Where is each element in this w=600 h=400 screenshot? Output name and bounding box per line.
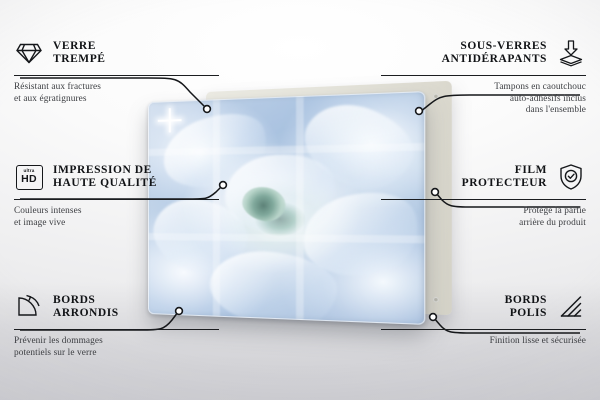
divider	[381, 329, 586, 330]
feature-title: BORDS	[505, 294, 547, 308]
feature-desc: et image vive	[14, 218, 219, 230]
feature-desc: Protège la partie	[381, 206, 586, 218]
feature-desc: et aux égratignures	[14, 94, 219, 106]
divider	[14, 329, 219, 330]
feature-title: PROTECTEUR	[462, 177, 547, 191]
feature-title: SOUS-VERRES	[442, 40, 547, 54]
feature-title: ARRONDIS	[53, 307, 119, 321]
divider	[14, 75, 219, 76]
feature-title: IMPRESSION DE	[53, 164, 157, 178]
feature-desc: dans l'ensemble	[381, 105, 586, 117]
divider	[14, 199, 219, 200]
feature-title: VERRE	[53, 40, 106, 54]
feature-sous-verres-antiderapants: SOUS-VERRES ANTIDÉRAPANTS Tampons en cao…	[381, 36, 586, 117]
feature-title: POLIS	[505, 307, 547, 321]
press-pad-icon	[556, 38, 586, 68]
feature-film-protecteur: FILM PROTECTEUR Protège la partie arrièr…	[381, 160, 586, 229]
feature-desc: auto-adhésifs inclus	[381, 94, 586, 106]
divider	[381, 199, 586, 200]
badge-hd-label: HD	[21, 174, 37, 185]
feature-impression-haute-qualite: ultra HD IMPRESSION DE HAUTE QUALITÉ Cou…	[14, 160, 219, 229]
feature-desc: Résistant aux fractures	[14, 82, 219, 94]
feature-desc: potentiels sur le verre	[14, 348, 219, 360]
rounded-corner-icon	[14, 292, 44, 322]
feature-desc: Finition lisse et sécurisée	[381, 336, 586, 348]
feature-title: TREMPÉ	[53, 53, 106, 67]
feature-verre-trempe: VERRE TREMPÉ Résistant aux fractures et …	[14, 36, 219, 105]
shield-check-icon	[556, 162, 586, 192]
feature-desc: Tampons en caoutchouc	[381, 82, 586, 94]
feature-title: HAUTE QUALITÉ	[53, 177, 157, 191]
feature-desc: Prévenir les dommages	[14, 336, 219, 348]
feature-title: FILM	[462, 164, 547, 178]
polished-edge-icon	[556, 292, 586, 322]
infographic-canvas: VERRE TREMPÉ Résistant aux fractures et …	[0, 0, 600, 400]
feature-title: ANTIDÉRAPANTS	[442, 53, 547, 67]
divider	[381, 75, 586, 76]
diamond-icon	[14, 38, 44, 68]
feature-bords-polis: BORDS POLIS Finition lisse et sécurisée	[381, 290, 586, 348]
feature-desc: arrière du produit	[381, 218, 586, 230]
feature-title: BORDS	[53, 294, 119, 308]
ultra-hd-badge-icon: ultra HD	[14, 162, 44, 192]
feature-bords-arrondis: BORDS ARRONDIS Prévenir les dommages pot…	[14, 290, 219, 359]
feature-desc: Couleurs intenses	[14, 206, 219, 218]
